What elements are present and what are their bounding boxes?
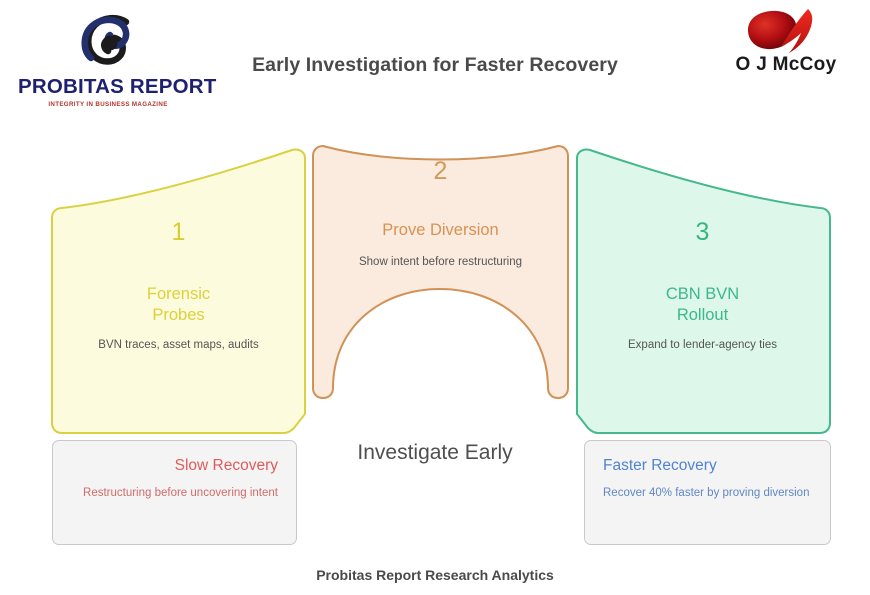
panel-3-title-line-2: Rollout — [575, 305, 830, 326]
panel-1-title-line-1: Forensic — [52, 284, 305, 305]
panel-1-title: Forensic Probes — [52, 284, 305, 326]
panel-3-subtitle: Expand to lender-agency ties — [575, 338, 830, 354]
page-title: Early Investigation for Faster Recovery — [185, 54, 685, 77]
panel-1-title-line-2: Probes — [52, 305, 305, 326]
probitas-tagline: INTEGRITY IN BUSINESS MAGAZINE — [18, 101, 198, 108]
probitas-swirl-shield-icon — [77, 12, 139, 74]
panel-1-number: 1 — [52, 220, 305, 245]
panel-2-subtitle: Show intent before restructuring — [313, 255, 568, 271]
panel-3-title-line-1: CBN BVN — [575, 284, 830, 305]
infographic-canvas: PROBITAS REPORT INTEGRITY IN BUSINESS MA… — [0, 0, 870, 595]
slow-recovery-title: Slow Recovery — [71, 457, 278, 476]
panel-3-title: CBN BVN Rollout — [575, 284, 830, 326]
footer-attribution: Probitas Report Research Analytics — [0, 567, 870, 583]
outcome-card-faster-recovery: Faster Recovery Recover 40% faster by pr… — [584, 440, 831, 545]
stage-panels-group: 1 Forensic Probes BVN traces, asset maps… — [0, 126, 870, 438]
panel-2-number: 2 — [313, 159, 568, 184]
probitas-wordmark: PROBITAS REPORT — [18, 75, 198, 99]
mccoy-red-flame-icon — [732, 8, 840, 56]
ojmccoy-logo: O J McCoy — [724, 6, 848, 88]
panel-3-number: 3 — [575, 220, 830, 245]
probitas-report-logo: PROBITAS REPORT INTEGRITY IN BUSINESS MA… — [18, 12, 198, 102]
panel-1-subtitle: BVN traces, asset maps, audits — [52, 338, 305, 354]
faster-recovery-subtitle: Recover 40% faster by proving diversion — [603, 485, 812, 501]
center-caption: Investigate Early — [310, 441, 560, 465]
panel-2-title: Prove Diversion — [313, 220, 568, 241]
slow-recovery-subtitle: Restructuring before uncovering intent — [71, 485, 278, 501]
faster-recovery-title: Faster Recovery — [603, 457, 812, 476]
outcome-card-slow-recovery: Slow Recovery Restructuring before uncov… — [52, 440, 297, 545]
ojmccoy-wordmark: O J McCoy — [724, 54, 848, 76]
